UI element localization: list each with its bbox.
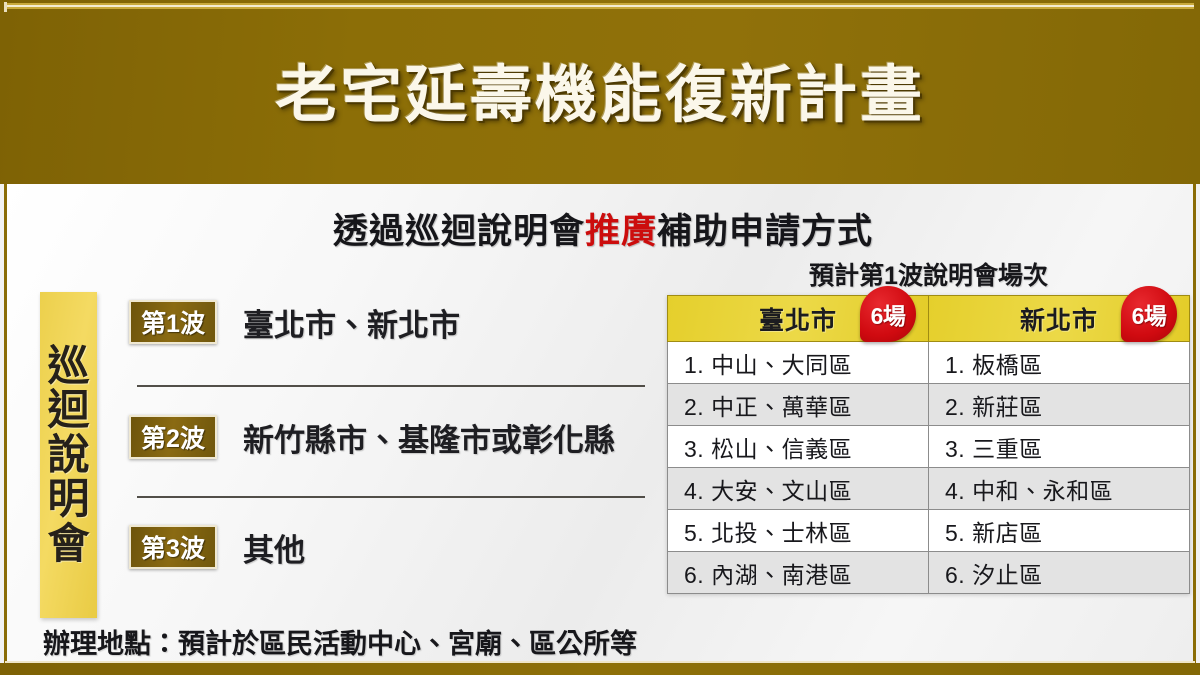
subtitle-part-2: 補助申請方式 bbox=[657, 212, 873, 251]
subtitle-highlight: 推廣 bbox=[585, 212, 657, 251]
wave-badge-2: 第2波 bbox=[129, 415, 217, 459]
vertical-banner-char: 會 bbox=[47, 522, 89, 567]
slide-root: 老宅延壽機能復新計畫 透過巡迴說明會推廣補助申請方式 巡 迴 說 明 會 第1波… bbox=[0, 0, 1200, 675]
header-corner-tick bbox=[4, 2, 7, 12]
subtitle-part-1: 透過巡迴說明會 bbox=[333, 212, 585, 251]
content-panel: 透過巡迴說明會推廣補助申請方式 巡 迴 說 明 會 第1波 臺北市、新北市 第2… bbox=[4, 184, 1196, 663]
table-header-row: 臺北市 6場 新北市 6場 bbox=[668, 296, 1190, 342]
section-subtitle: 透過巡迴說明會推廣補助申請方式 bbox=[7, 203, 1196, 254]
vertical-banner-char: 說 bbox=[47, 433, 89, 478]
cell-newtaipei: 1. 板橋區 bbox=[929, 342, 1190, 384]
table-row: 1. 中山、大同區 1. 板橋區 bbox=[668, 342, 1190, 384]
cell-newtaipei: 3. 三重區 bbox=[929, 426, 1190, 468]
wave-label-3: 其他 bbox=[243, 525, 305, 570]
table-row: 2. 中正、萬華區 2. 新莊區 bbox=[668, 384, 1190, 426]
table-caption: 預計第1波說明會場次 bbox=[667, 256, 1190, 292]
table-row: 6. 內湖、南港區 6. 汐止區 bbox=[668, 552, 1190, 594]
page-title: 老宅延壽機能復新計畫 bbox=[0, 44, 1200, 134]
vertical-banner-char: 迴 bbox=[47, 388, 89, 433]
cell-newtaipei: 4. 中和、永和區 bbox=[929, 468, 1190, 510]
cell-newtaipei: 5. 新店區 bbox=[929, 510, 1190, 552]
cell-taipei: 1. 中山、大同區 bbox=[668, 342, 929, 384]
bottom-band bbox=[0, 663, 1200, 675]
header-decorative-rule bbox=[6, 3, 1194, 9]
venue-table: 臺北市 6場 新北市 6場 1. 中山、大同區 1. 板橋區 bbox=[667, 295, 1190, 594]
cell-taipei: 5. 北投、士林區 bbox=[668, 510, 929, 552]
table-header-newtaipei-label: 新北市 bbox=[1020, 301, 1098, 337]
wave-badge-1: 第1波 bbox=[129, 300, 217, 344]
cell-taipei: 2. 中正、萬華區 bbox=[668, 384, 929, 426]
wave-badge-3: 第3波 bbox=[129, 525, 217, 569]
table-row: 5. 北投、士林區 5. 新店區 bbox=[668, 510, 1190, 552]
wave-item-3: 第3波 其他 bbox=[129, 522, 305, 572]
table-header-taipei: 臺北市 6場 bbox=[668, 296, 929, 342]
vertical-banner-char: 巡 bbox=[47, 344, 89, 389]
vertical-banner-char: 明 bbox=[47, 477, 89, 522]
wave-label-2: 新竹縣市、基隆市或彰化縣 bbox=[243, 415, 615, 460]
table-header-taipei-label: 臺北市 bbox=[759, 301, 837, 337]
cell-taipei: 3. 松山、信義區 bbox=[668, 426, 929, 468]
table-header-newtaipei: 新北市 6場 bbox=[929, 296, 1190, 342]
cell-newtaipei: 2. 新莊區 bbox=[929, 384, 1190, 426]
table-row: 4. 大安、文山區 4. 中和、永和區 bbox=[668, 468, 1190, 510]
footer-note: 辦理地點：預計於區民活動中心、宮廟、區公所等 bbox=[43, 622, 637, 661]
wave-item-1: 第1波 臺北市、新北市 bbox=[129, 297, 460, 347]
count-badge-newtaipei: 6場 bbox=[1121, 286, 1177, 342]
vertical-banner: 巡 迴 說 明 會 bbox=[40, 292, 97, 618]
wave-label-1: 臺北市、新北市 bbox=[243, 300, 460, 345]
wave-divider bbox=[137, 496, 645, 498]
wave-divider bbox=[137, 385, 645, 387]
cell-taipei: 4. 大安、文山區 bbox=[668, 468, 929, 510]
cell-taipei: 6. 內湖、南港區 bbox=[668, 552, 929, 594]
wave-item-2: 第2波 新竹縣市、基隆市或彰化縣 bbox=[129, 412, 615, 462]
header-band: 老宅延壽機能復新計畫 bbox=[0, 0, 1200, 184]
cell-newtaipei: 6. 汐止區 bbox=[929, 552, 1190, 594]
count-badge-taipei: 6場 bbox=[860, 286, 916, 342]
table-row: 3. 松山、信義區 3. 三重區 bbox=[668, 426, 1190, 468]
